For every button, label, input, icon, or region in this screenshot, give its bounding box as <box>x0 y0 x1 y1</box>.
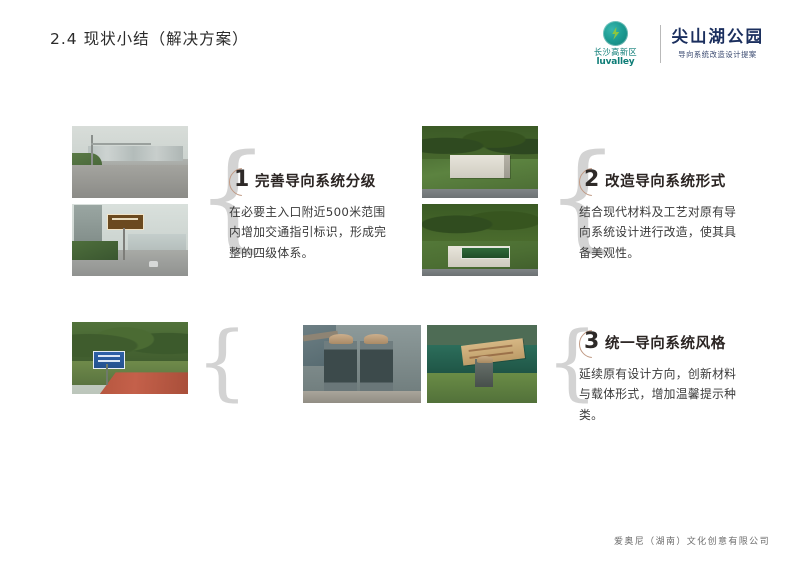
photo-park-sign-green <box>422 204 538 276</box>
photo-road-sign <box>72 204 188 276</box>
callout-2: 2 改造导向系统形式 结合现代材料及工艺对原有导向系统设计进行改造，使其具备美观… <box>579 168 739 263</box>
callout-3-number: 3 <box>584 329 599 355</box>
brace-group-3: { <box>196 322 248 404</box>
brand-lockup: 长沙高新区 luvalley 尖山湖公园 导向系统改造设计提案 <box>583 18 765 70</box>
callout-1-number-badge: 1 <box>229 168 255 194</box>
project-title-block: 尖山湖公园 导向系统改造设计提案 <box>672 28 765 61</box>
callout-3-number-badge: 3 <box>579 330 605 356</box>
photo-wood-board <box>427 325 537 403</box>
callout-1-heading-row: 1 完善导向系统分级 <box>229 168 389 194</box>
callout-1-body: 在必要主入口附近500米范围内增加交通指引标识，形成完整的四级体系。 <box>229 202 389 263</box>
photo-road-overpass <box>72 126 188 198</box>
brand-cn-name: 长沙高新区 <box>594 49 637 58</box>
footer-company: 爱奥尼（湖南）文化创意有限公司 <box>614 534 770 547</box>
luvalley-swirl-icon <box>603 21 628 46</box>
callout-2-heading-row: 2 改造导向系统形式 <box>579 168 739 194</box>
project-title: 尖山湖公园 <box>672 28 765 47</box>
page-title: 2.4 现状小结（解决方案） <box>50 27 249 49</box>
photo-park-sign-plain <box>422 126 538 198</box>
callout-2-number: 2 <box>584 167 599 193</box>
brand-divider <box>660 25 661 63</box>
callout-2-body: 结合现代材料及工艺对原有导向系统设计进行改造，使其具备美观性。 <box>579 202 739 263</box>
photo-red-running-track <box>72 322 188 394</box>
brand-en-name: luvalley <box>597 58 635 67</box>
callout-3-heading-row: 3 统一导向系统风格 <box>579 330 739 356</box>
callout-3-body: 延续原有设计方向，创新材料与载体形式，增加温馨提示种类。 <box>579 364 739 425</box>
brand-logo-block: 长沙高新区 luvalley <box>583 21 649 67</box>
callout-1-number: 1 <box>234 167 249 193</box>
callout-3: 3 统一导向系统风格 延续原有设计方向，创新材料与载体形式，增加温馨提示种类。 <box>579 330 739 425</box>
callout-3-heading: 统一导向系统风格 <box>605 334 726 356</box>
callout-2-heading: 改造导向系统形式 <box>605 172 726 194</box>
photo-stone-pillars <box>303 325 421 403</box>
callout-2-number-badge: 2 <box>579 168 605 194</box>
callout-1: 1 完善导向系统分级 在必要主入口附近500米范围内增加交通指引标识，形成完整的… <box>229 168 389 263</box>
project-subtitle: 导向系统改造设计提案 <box>678 49 757 60</box>
callout-1-heading: 完善导向系统分级 <box>255 172 376 194</box>
